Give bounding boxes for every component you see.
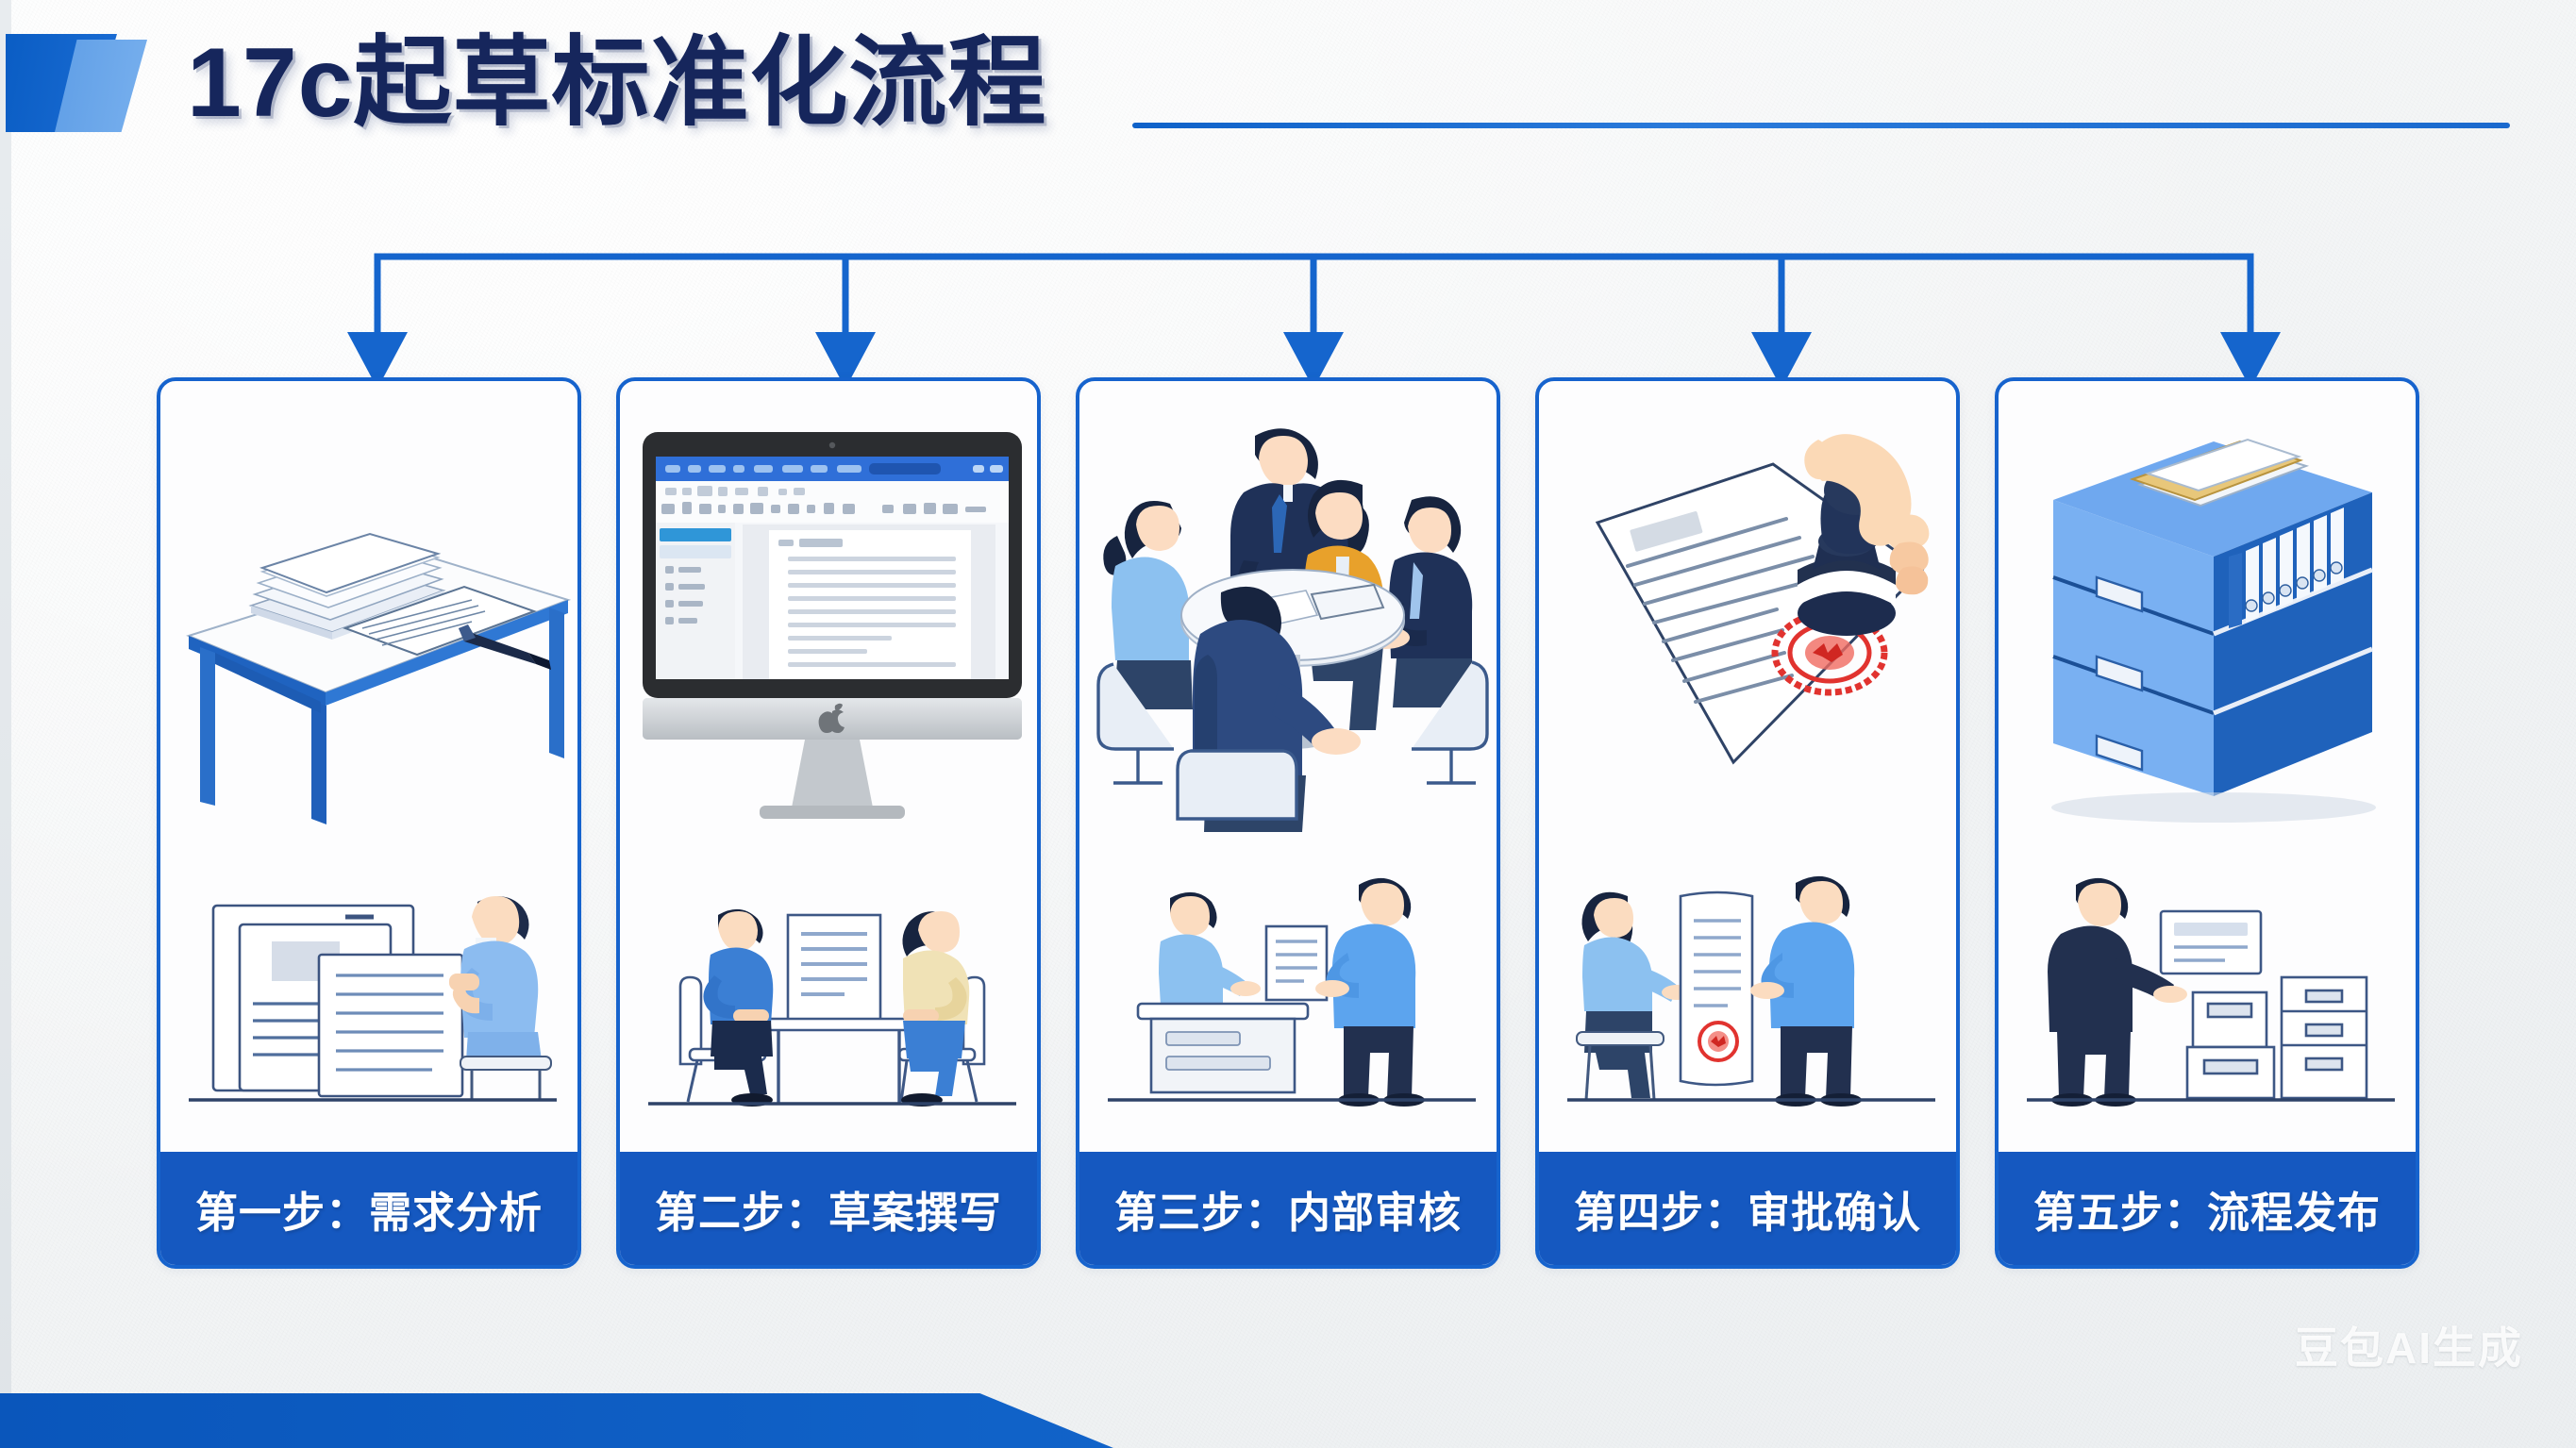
connector-tree bbox=[0, 226, 2576, 396]
slide-canvas: 17c起草标准化流程 bbox=[0, 0, 2576, 1448]
step-2-top-illustration bbox=[620, 381, 1037, 843]
step-5-bottom-illustration bbox=[1999, 843, 2416, 1136]
filing-cabinet-with-binders-icon bbox=[1999, 381, 2419, 843]
step-card-2[interactable]: 第二步：草案撰写 bbox=[616, 377, 1041, 1269]
round-table-meeting-five-people-icon bbox=[1079, 381, 1500, 843]
step-3-top-illustration bbox=[1079, 381, 1497, 843]
step-1-label: 第一步：需求分析 bbox=[160, 1152, 577, 1265]
process-step-cards: 第一步：需求分析 bbox=[0, 377, 2576, 1273]
step-3-label: 第三步：内部审核 bbox=[1079, 1152, 1497, 1265]
step-5-label: 第五步：流程发布 bbox=[1999, 1152, 2416, 1265]
desktop-monitor-word-processor-icon bbox=[620, 381, 1041, 843]
step-4-label: 第四步：审批确认 bbox=[1539, 1152, 1956, 1265]
step-card-3[interactable]: 第三步：内部审核 bbox=[1076, 377, 1500, 1269]
step-3-bottom-illustration bbox=[1079, 843, 1497, 1136]
page-title: 17c起草标准化流程 bbox=[187, 30, 1047, 136]
watermark-label: 豆包AI生成 bbox=[2295, 1314, 2523, 1376]
step-card-4: 第四步：审批确认 bbox=[1535, 377, 1960, 1269]
step-4-bottom-illustration bbox=[1539, 843, 1956, 1136]
step-2-bottom-illustration bbox=[620, 843, 1037, 1136]
title-underline-rule bbox=[1132, 123, 2510, 128]
step-card-5[interactable]: 第五步：流程发布 bbox=[1995, 377, 2419, 1269]
step-4-top-illustration bbox=[1539, 381, 1956, 843]
step-2-label: 第二步：草案撰写 bbox=[620, 1152, 1037, 1265]
hand-stamping-document-red-seal-icon bbox=[1539, 381, 1960, 843]
two-people-signing-sealed-document-icon bbox=[1539, 843, 1960, 1136]
desk-with-document-stack-and-pen-icon bbox=[160, 381, 581, 843]
step-5-top-illustration bbox=[1999, 381, 2416, 843]
step-1-top-illustration bbox=[160, 381, 577, 843]
step-card-1[interactable]: 第一步：需求分析 bbox=[157, 377, 581, 1269]
person-reviewing-documents-icon bbox=[160, 843, 581, 1136]
two-people-reviewing-draft-at-table-icon bbox=[620, 843, 1041, 1136]
step-1-bottom-illustration bbox=[160, 843, 577, 1136]
person-publishing-documents-archive-icon bbox=[1999, 843, 2419, 1136]
desk-handover-document-icon bbox=[1079, 843, 1500, 1136]
